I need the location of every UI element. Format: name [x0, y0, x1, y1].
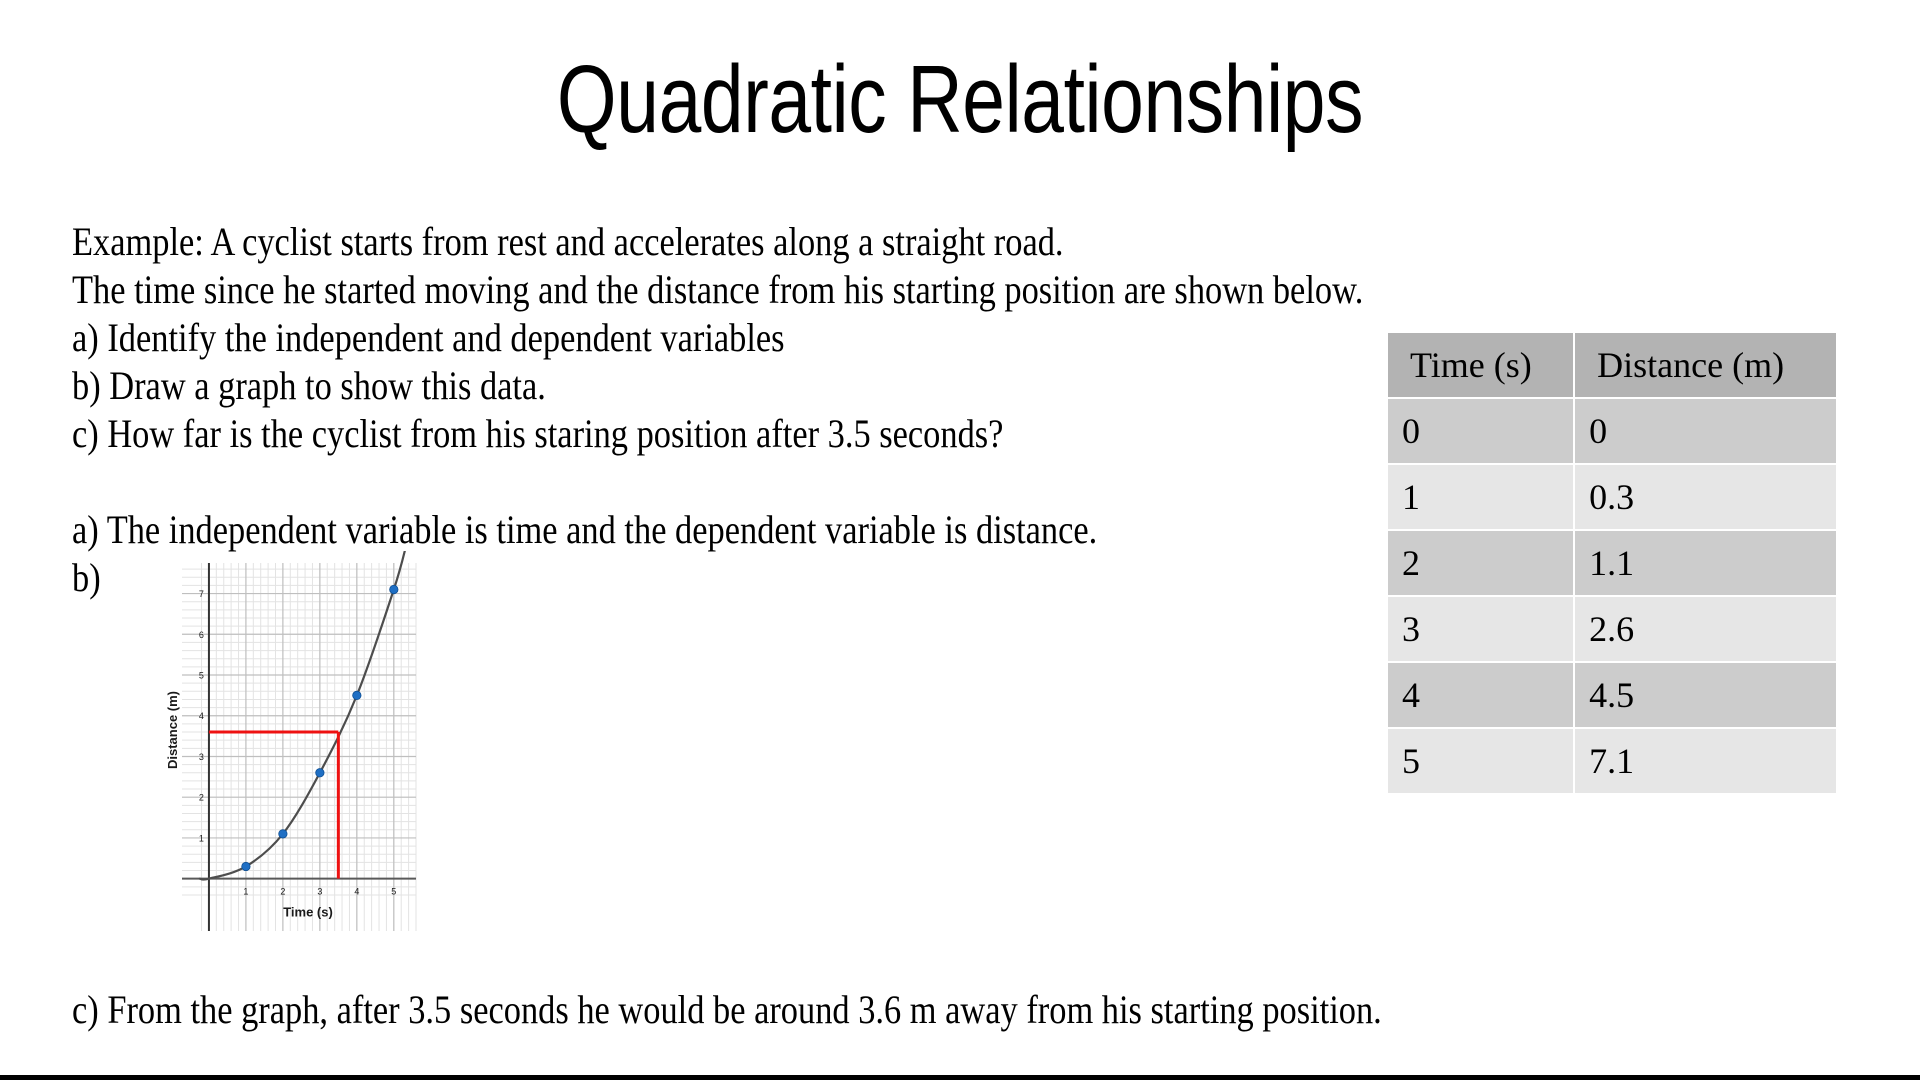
data-point	[316, 769, 324, 777]
distance-time-graph: 1234567 12345 Time (s) Distance (m)	[166, 551, 428, 955]
example-intro-line: Example: A cyclist starts from rest and …	[72, 222, 1064, 262]
cell-distance: 1.1	[1574, 530, 1837, 596]
cell-distance: 7.1	[1574, 728, 1837, 794]
page-title: Quadratic Relationships	[192, 52, 1728, 148]
cell-distance: 2.6	[1574, 596, 1837, 662]
table-header-time: Time (s)	[1387, 332, 1574, 398]
data-point	[353, 691, 361, 699]
table-row: 2 1.1	[1387, 530, 1837, 596]
table-row: 5 7.1	[1387, 728, 1837, 794]
table-row: 0 0	[1387, 398, 1837, 464]
cell-distance: 0	[1574, 398, 1837, 464]
x-tick-label: 3	[317, 887, 322, 897]
cell-distance: 4.5	[1574, 662, 1837, 728]
table-header-distance: Distance (m)	[1574, 332, 1837, 398]
x-tick-label: 4	[354, 887, 359, 897]
x-tick-label: 2	[280, 887, 285, 897]
answer-c: c) From the graph, after 3.5 seconds he …	[72, 990, 1382, 1030]
y-tick-label: 7	[199, 589, 204, 599]
question-a: a) Identify the independent and dependen…	[72, 318, 785, 358]
cell-time: 4	[1387, 662, 1574, 728]
question-c: c) How far is the cyclist from his stari…	[72, 414, 1003, 454]
x-axis-label: Time (s)	[283, 905, 333, 920]
table-row: 3 2.6	[1387, 596, 1837, 662]
example-detail-line: The time since he started moving and the…	[72, 270, 1363, 310]
cell-distance: 0.3	[1574, 464, 1837, 530]
answer-b-label: b)	[72, 558, 101, 598]
y-tick-label: 2	[199, 793, 204, 803]
y-axis-label: Distance (m)	[166, 691, 180, 769]
data-point	[390, 585, 398, 593]
y-tick-label: 5	[199, 671, 204, 681]
cell-time: 5	[1387, 728, 1574, 794]
y-tick-label: 1	[199, 833, 204, 843]
cell-time: 3	[1387, 596, 1574, 662]
data-point	[279, 830, 287, 838]
answer-a: a) The independent variable is time and …	[72, 510, 1097, 550]
x-tick-label: 5	[391, 887, 396, 897]
x-tick-label: 1	[243, 887, 248, 897]
data-point	[242, 862, 250, 870]
graph-svg: 1234567 12345 Time (s) Distance (m)	[166, 551, 428, 955]
y-tick-label: 4	[199, 711, 204, 721]
table-row: 4 4.5	[1387, 662, 1837, 728]
table-header-row: Time (s) Distance (m)	[1387, 332, 1837, 398]
y-tick-label: 3	[199, 752, 204, 762]
time-distance-table: Time (s) Distance (m) 0 0 1 0.3 2 1.1 3 …	[1386, 331, 1838, 795]
table-row: 1 0.3	[1387, 464, 1837, 530]
cell-time: 1	[1387, 464, 1574, 530]
y-tick-label: 6	[199, 630, 204, 640]
question-b: b) Draw a graph to show this data.	[72, 366, 546, 406]
slide-canvas: Quadratic Relationships Example: A cycli…	[0, 0, 1920, 1080]
cell-time: 2	[1387, 530, 1574, 596]
cell-time: 0	[1387, 398, 1574, 464]
